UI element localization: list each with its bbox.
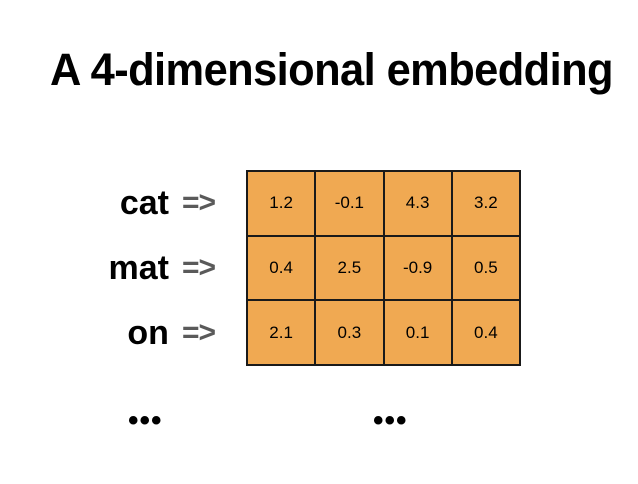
page-title: A 4-dimensional embedding bbox=[50, 44, 587, 96]
word-label-on: on bbox=[127, 316, 169, 350]
ellipsis-words: ••• bbox=[128, 406, 163, 436]
word-label-row: cat => bbox=[0, 170, 218, 235]
maps-to-arrow-icon: => bbox=[182, 253, 215, 283]
embedding-cell: 1.2 bbox=[247, 171, 315, 236]
embedding-cell: 3.2 bbox=[452, 171, 520, 236]
word-label-cat: cat bbox=[120, 186, 169, 220]
maps-to-arrow-icon: => bbox=[182, 318, 215, 348]
embedding-cell: 0.3 bbox=[315, 300, 383, 365]
embedding-matrix: 1.2 -0.1 4.3 3.2 0.4 2.5 -0.9 0.5 2.1 0.… bbox=[246, 170, 521, 366]
ellipsis-vectors: ••• bbox=[373, 406, 408, 436]
embedding-cell: -0.1 bbox=[315, 171, 383, 236]
table-row: 1.2 -0.1 4.3 3.2 bbox=[247, 171, 520, 236]
table-row: 0.4 2.5 -0.9 0.5 bbox=[247, 236, 520, 301]
embedding-cell: 4.3 bbox=[384, 171, 452, 236]
maps-to-arrow-icon: => bbox=[182, 188, 215, 218]
word-label-column: cat => mat => on => bbox=[0, 170, 218, 366]
word-label-mat: mat bbox=[108, 251, 168, 285]
slide-canvas: A 4-dimensional embedding cat => mat => … bbox=[0, 0, 638, 484]
word-label-row: on => bbox=[0, 301, 218, 366]
embedding-cell: 0.1 bbox=[384, 300, 452, 365]
embedding-cell: 0.5 bbox=[452, 236, 520, 301]
word-label-row: mat => bbox=[0, 235, 218, 300]
embedding-cell: 0.4 bbox=[452, 300, 520, 365]
embedding-cell: -0.9 bbox=[384, 236, 452, 301]
table-row: 2.1 0.3 0.1 0.4 bbox=[247, 300, 520, 365]
embedding-cell: 2.5 bbox=[315, 236, 383, 301]
embedding-cell: 2.1 bbox=[247, 300, 315, 365]
embedding-cell: 0.4 bbox=[247, 236, 315, 301]
